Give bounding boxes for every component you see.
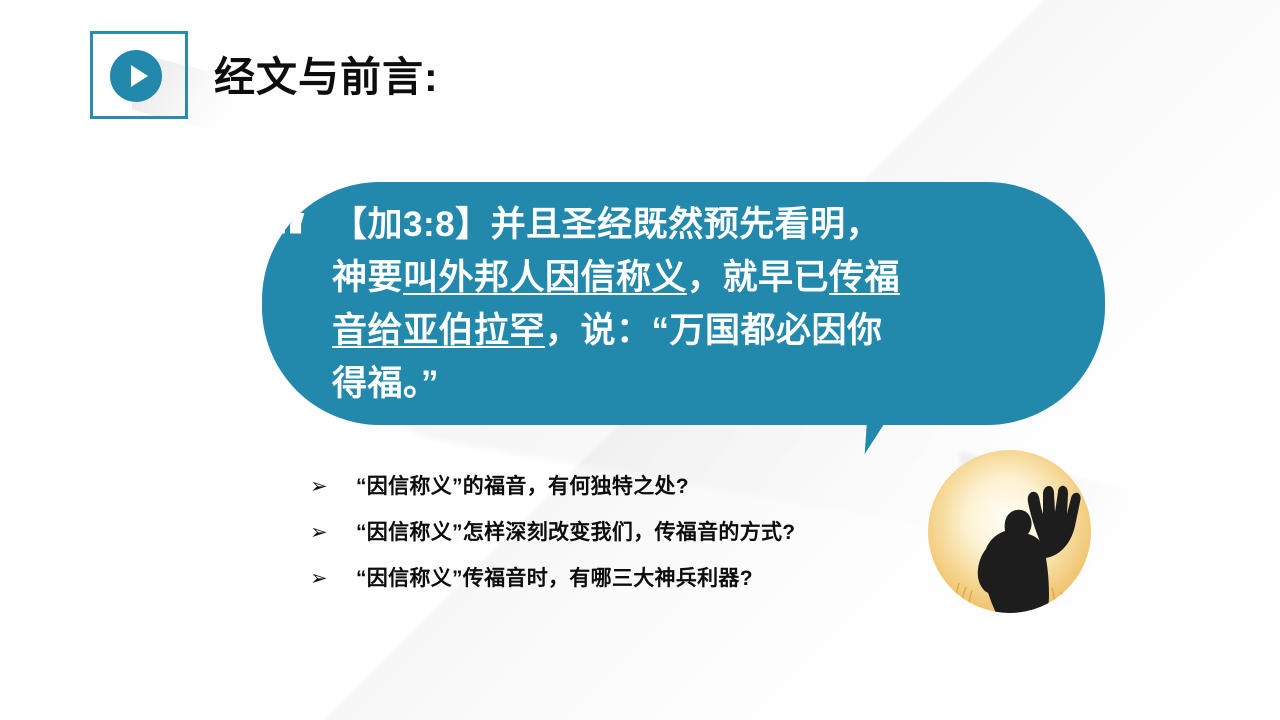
list-item-label: “因信称义”的福音，有何独特之处? [356, 470, 689, 500]
quote-segment-underlined: 叫外邦人因信称义 [403, 258, 687, 297]
scripture-quote-line: 【加3:8】并且圣经既然预先看明， [332, 198, 1062, 251]
scripture-quote-line: 得福。” [332, 357, 1062, 410]
scripture-quote-text: 【加3:8】并且圣经既然预先看明，神要叫外邦人因信称义，就早已传福音给亚伯拉罕，… [332, 198, 1062, 410]
quote-segment: 得福。” [332, 364, 439, 403]
quote-segment-underlined: 传福 [829, 258, 900, 297]
scripture-quote-line: 神要叫外邦人因信称义，就早已传福 [332, 251, 1062, 304]
list-item-label: “因信称义”传福音时，有哪三大神兵利器? [356, 562, 753, 592]
arrow-bullet-icon: ➢ [310, 568, 356, 589]
scripture-quote-line: 音给亚伯拉罕，说：“万国都必因你 [332, 304, 1062, 357]
quote-segment: 神要 [332, 258, 403, 297]
silhouette-raised-hand-photo [928, 450, 1091, 613]
list-item: ➢“因信称义”传福音时，有哪三大神兵利器? [310, 562, 910, 608]
arrow-bullet-icon: ➢ [310, 522, 356, 543]
quote-segment: ，就早已 [687, 258, 829, 297]
silhouette-illustration [928, 450, 1091, 613]
arrow-bullet-icon: ➢ [310, 476, 356, 497]
question-list: ➢“因信称义”的福音，有何独特之处?➢“因信称义”怎样深刻改变我们，传福音的方式… [310, 470, 910, 608]
list-item: ➢“因信称义”怎样深刻改变我们，传福音的方式? [310, 516, 910, 562]
page-title: 经文与前言: [214, 54, 439, 101]
play-triangle-icon [131, 65, 148, 87]
slide-canvas: 经文与前言: “ 【加3:8】并且圣经既然预先看明，神要叫外邦人因信称义，就早已… [0, 0, 1280, 720]
speech-bubble-tail [865, 414, 920, 458]
quote-segment: ，说：“万国都必因你 [545, 311, 883, 350]
play-button-icon[interactable] [110, 50, 162, 102]
quote-segment: 【加3:8】并且圣经既然预先看明， [332, 205, 881, 244]
quote-segment-underlined: 音给亚伯拉罕 [332, 311, 545, 350]
list-item-label: “因信称义”怎样深刻改变我们，传福音的方式? [356, 516, 795, 546]
quotation-mark-icon: “ [267, 206, 327, 272]
list-item: ➢“因信称义”的福音，有何独特之处? [310, 470, 910, 516]
